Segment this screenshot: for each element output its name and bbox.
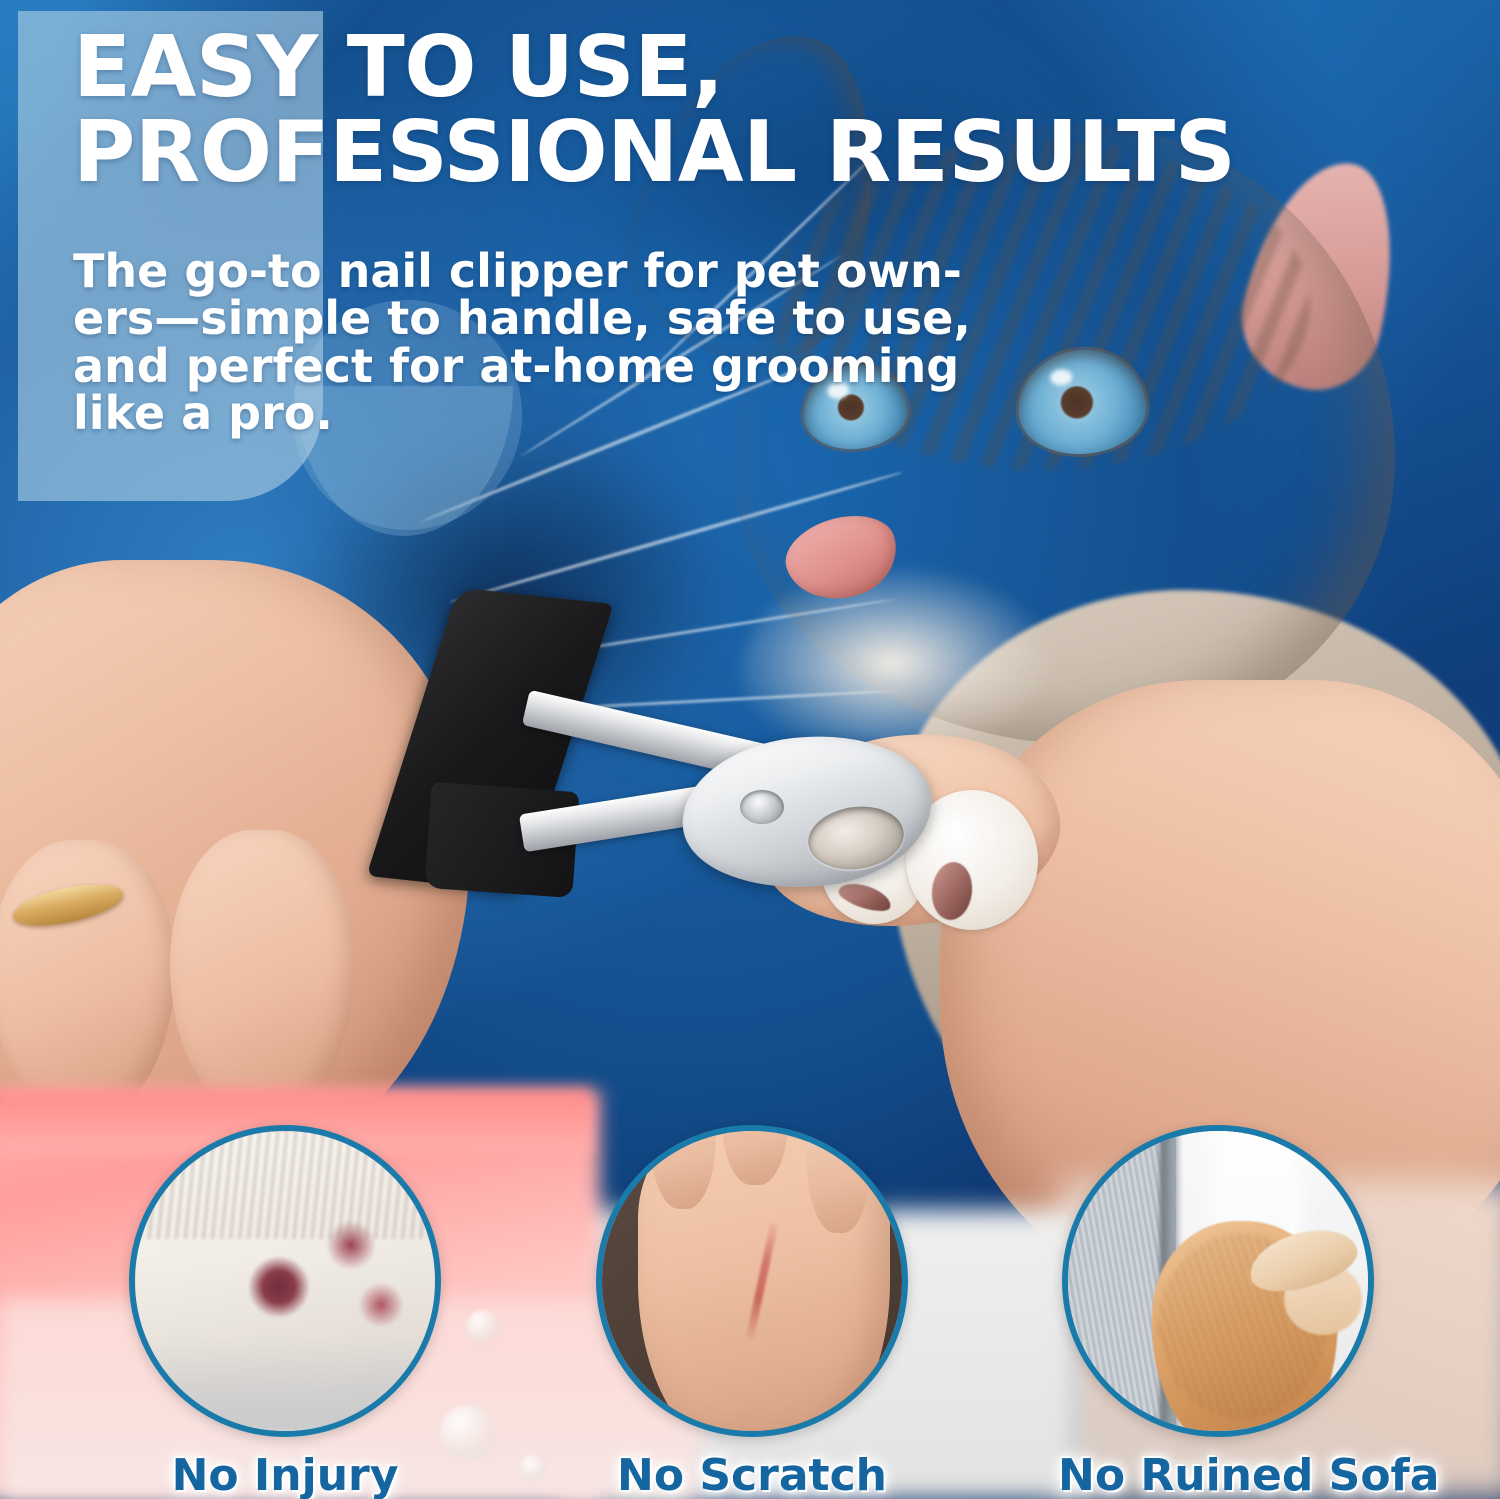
body-line-2: ers—simple to handle, safe to use, (73, 295, 903, 342)
page-title: EASY TO USE, PROFESSIONAL RESULTS (73, 28, 1313, 194)
callout-image-no-scratch (596, 1125, 908, 1437)
callout-image-no-injury (129, 1125, 441, 1437)
body-line-1: The go-to nail clipper for pet own- (73, 248, 903, 295)
callout-caption-no-injury: No Injury (125, 1450, 445, 1499)
callout-caption-no-scratch: No Scratch (592, 1450, 912, 1499)
callout-image-no-ruined-sofa (1062, 1125, 1374, 1437)
callout-caption-no-ruined-sofa: No Ruined Sofa (1058, 1450, 1378, 1499)
nail-clipper-tool (410, 595, 880, 925)
callout-no-injury: No Injury (125, 1125, 445, 1499)
body-line-4: like a pro. (73, 390, 903, 437)
scratched-hand-image (602, 1131, 902, 1431)
finger (170, 830, 355, 1120)
headline-line-2: PROFESSIONAL RESULTS (73, 113, 1313, 194)
benefit-callouts: No Injury No Scratch (0, 1125, 1500, 1499)
body-line-3: and perfect for at-home grooming (73, 343, 903, 390)
subheading-copy: The go-to nail clipper for pet own- ers—… (73, 248, 903, 438)
eye-glint (1050, 369, 1073, 386)
paw-shadow (135, 1341, 435, 1431)
clipper-rivet (740, 790, 784, 824)
marketing-banner: EASY TO USE, PROFESSIONAL RESULTS The go… (0, 0, 1500, 1499)
callout-no-ruined-sofa: No Ruined Sofa (1058, 1125, 1378, 1499)
cat-clawing-sofa-image (1068, 1131, 1368, 1431)
paw-fur-texture (135, 1131, 435, 1239)
callout-no-scratch: No Scratch (592, 1125, 912, 1499)
